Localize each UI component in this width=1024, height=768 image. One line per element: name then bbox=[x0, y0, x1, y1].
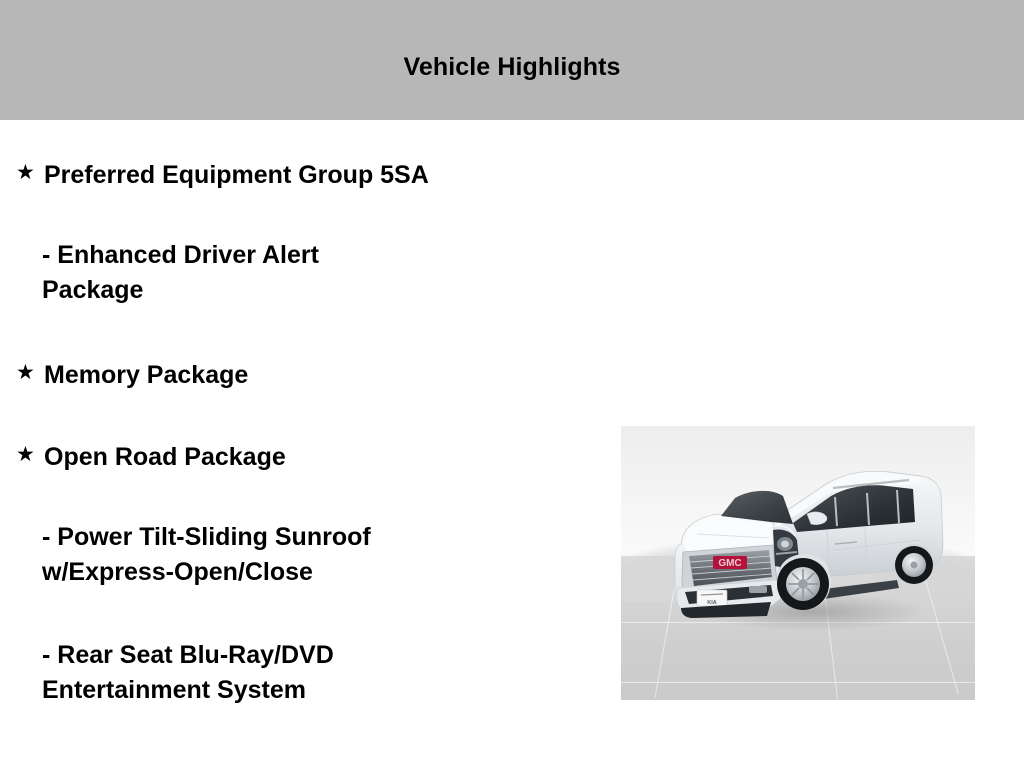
list-item-label: - Rear Seat Blu-Ray/DVD Entertainment Sy… bbox=[42, 638, 582, 708]
header-band: Vehicle Highlights bbox=[0, 0, 1024, 120]
gmc-badge-text: GMC bbox=[718, 558, 741, 569]
list-item-label: - Power Tilt-Sliding Sunroof w/Express-O… bbox=[42, 520, 582, 590]
star-bullet-icon: ★ bbox=[16, 359, 38, 387]
fog-light bbox=[749, 586, 767, 593]
front-wheel-hub bbox=[798, 579, 808, 589]
rear-wheel-hub bbox=[911, 562, 918, 569]
license-plate-text: KIA bbox=[707, 600, 717, 606]
star-bullet-icon: ★ bbox=[16, 441, 38, 469]
page-title: Vehicle Highlights bbox=[0, 52, 1024, 82]
suv-illustration: GMC KIA bbox=[621, 426, 975, 700]
content-area: ★ Preferred Equipment Group 5SA - Enhanc… bbox=[0, 120, 1024, 768]
vehicle-photo: GMC KIA bbox=[621, 426, 975, 700]
list-item-label: Preferred Equipment Group 5SA bbox=[44, 158, 584, 193]
list-item-label: - Enhanced Driver Alert Package bbox=[42, 238, 582, 308]
list-item-label: Open Road Package bbox=[44, 440, 584, 475]
list-item-label: Memory Package bbox=[44, 358, 584, 393]
headlight-projector bbox=[781, 541, 789, 548]
star-bullet-icon: ★ bbox=[16, 159, 38, 187]
